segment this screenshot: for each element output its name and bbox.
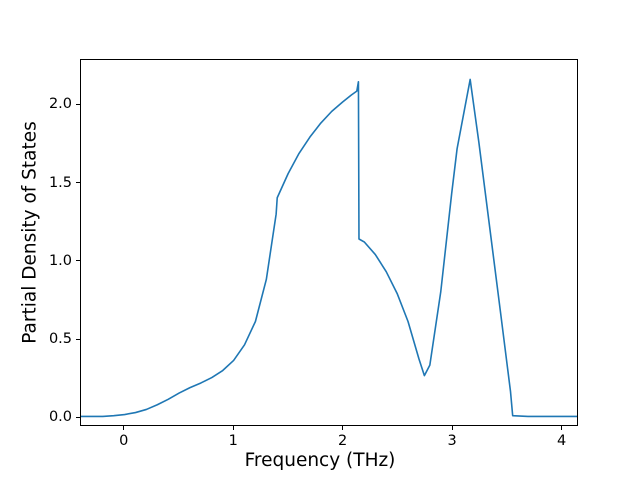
plot-area bbox=[80, 59, 578, 426]
chart-figure: 01234 0.00.51.01.52.0 Frequency (THz) Pa… bbox=[0, 0, 640, 480]
x-tick-label: 2 bbox=[338, 433, 347, 449]
y-tickmark bbox=[76, 104, 80, 105]
x-tick-label: 4 bbox=[557, 433, 566, 449]
x-tickmark bbox=[561, 426, 562, 430]
x-tickmark bbox=[342, 426, 343, 430]
y-tickmark bbox=[76, 182, 80, 183]
x-tick-label: 0 bbox=[119, 433, 128, 449]
x-axis-label: Frequency (THz) bbox=[0, 450, 640, 471]
x-tickmark bbox=[233, 426, 234, 430]
y-tickmark bbox=[76, 417, 80, 418]
x-tick-label: 1 bbox=[229, 433, 238, 449]
y-tickmark bbox=[76, 339, 80, 340]
y-tickmark bbox=[76, 260, 80, 261]
x-tick-label: 3 bbox=[448, 433, 457, 449]
x-tickmark bbox=[452, 426, 453, 430]
x-tickmark bbox=[123, 426, 124, 430]
y-axis-label: Partial Density of States bbox=[20, 53, 41, 413]
pdos-curve bbox=[81, 60, 577, 425]
